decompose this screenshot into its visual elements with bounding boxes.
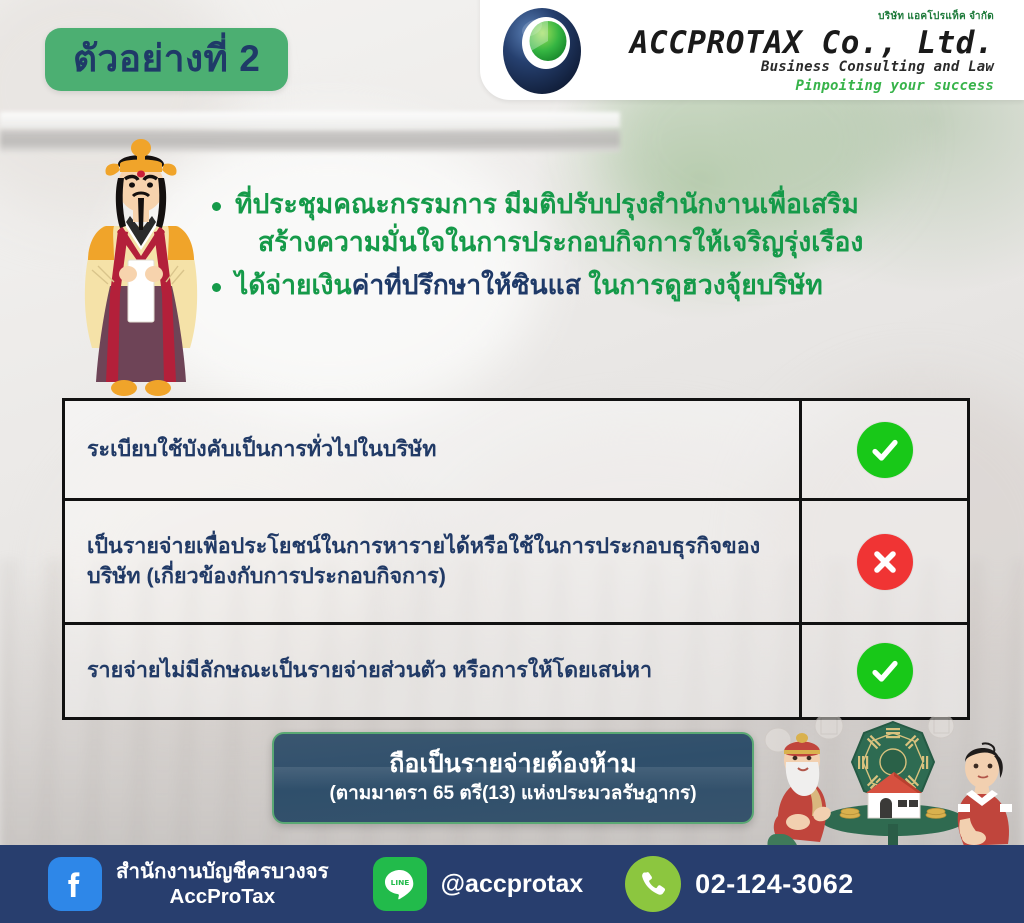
line-icon-label: LINE	[390, 878, 409, 887]
footer-line[interactable]: LINE @accprotax	[373, 857, 584, 911]
red-cross-circle-icon	[857, 534, 913, 590]
logo-tagline: Pinpoiting your success	[796, 78, 994, 94]
table-row: เป็นรายจ่ายเพื่อประโยชน์ในการหารายได้หรื…	[65, 501, 967, 625]
bullet-segment: ที่ประชุมคณะกรรมการ มีมติปรับปรุงสำนักงา…	[235, 189, 859, 219]
criteria-text: ระเบียบใช้บังคับเป็นการทั่วไปในบริษัท	[65, 401, 799, 498]
facebook-icon[interactable]	[48, 857, 102, 911]
fengshui-master-consultation-illustration	[762, 716, 1024, 852]
footer-phone[interactable]: 02-124-3062	[625, 856, 854, 912]
bullet-list: ที่ประชุมคณะกรรมการ มีมติปรับปรุงสำนักงา…	[212, 186, 1012, 311]
bullet-text: ได้จ่ายเงินค่าที่ปรึกษาให้ซินแส ในการดูฮ…	[235, 267, 823, 305]
line-chat-icon[interactable]: LINE	[373, 857, 427, 911]
accprotax-sphere-logo-icon	[498, 4, 590, 96]
bullet-item: ได้จ่ายเงินค่าที่ปรึกษาให้ซินแส ในการดูฮ…	[212, 267, 1012, 305]
logo-thai-company-name: บริษัท แอคโปรแท็ค จำกัด	[878, 9, 994, 24]
conclusion-banner: ถือเป็นรายจ่ายต้องห้าม (ตามมาตรา 65 ตรี(…	[272, 732, 754, 824]
bullet-dot-icon	[212, 283, 221, 292]
bullet-segment-highlight: ค่าที่ปรึกษาให้ซินแส	[352, 270, 581, 300]
contact-footer: สำนักงานบัญชีครบวงจร AccProTax LINE @acc…	[0, 845, 1024, 923]
logo-subtitle: Business Consulting and Law	[761, 59, 994, 75]
chinese-deity-figure-illustration	[62, 134, 220, 402]
phone-icon[interactable]	[625, 856, 681, 912]
facebook-page-line2: AccProTax	[170, 885, 276, 908]
table-row: ระเบียบใช้บังคับเป็นการทั่วไปในบริษัท	[65, 401, 967, 501]
criteria-table: ระเบียบใช้บังคับเป็นการทั่วไปในบริษัท เป…	[62, 398, 970, 720]
phone-number: 02-124-3062	[695, 869, 854, 900]
criteria-result-cell	[799, 501, 967, 622]
criteria-text: เป็นรายจ่ายเพื่อประโยชน์ในการหารายได้หรื…	[65, 501, 799, 622]
conclusion-main-text: ถือเป็นรายจ่ายต้องห้าม	[389, 750, 637, 779]
bullet-segment: สร้างความมั่นใจในการประกอบกิจการให้เจริญ…	[235, 224, 863, 262]
green-check-circle-icon	[857, 422, 913, 478]
criteria-result-cell	[799, 401, 967, 498]
facebook-page-line1: สำนักงานบัญชีครบวงจร	[116, 860, 329, 883]
background-shelf-highlight	[0, 112, 620, 128]
bullet-segment: ได้จ่ายเงิน	[235, 270, 352, 300]
conclusion-sub-text: (ตามมาตรา 65 ตรี(13) แห่งประมวลรัษฎากร)	[329, 783, 696, 806]
green-check-circle-icon	[857, 643, 913, 699]
footer-facebook[interactable]: สำนักงานบัญชีครบวงจร AccProTax	[48, 857, 329, 911]
bullet-dot-icon	[212, 202, 221, 211]
facebook-page-name: สำนักงานบัญชีครบวงจร AccProTax	[116, 859, 329, 909]
logo-company-name: ACCPROTAX Co., Ltd.	[630, 25, 994, 61]
bullet-item: ที่ประชุมคณะกรรมการ มีมติปรับปรุงสำนักงา…	[212, 186, 1012, 261]
example-badge: ตัวอย่างที่ 2	[45, 28, 288, 91]
criteria-text: รายจ่ายไม่มีลักษณะเป็นรายจ่ายส่วนตัว หรื…	[65, 625, 799, 717]
company-logo-card: บริษัท แอคโปรแท็ค จำกัด ACCPROTAX Co., L…	[480, 0, 1024, 100]
table-row: รายจ่ายไม่มีลักษณะเป็นรายจ่ายส่วนตัว หรื…	[65, 625, 967, 717]
line-handle: @accprotax	[441, 870, 584, 899]
bullet-segment: ในการดูฮวงจุ้ยบริษัท	[581, 270, 823, 300]
bullet-text: ที่ประชุมคณะกรรมการ มีมติปรับปรุงสำนักงา…	[235, 186, 863, 261]
infographic-poster: ตัวอย่างที่ 2	[0, 0, 1024, 923]
criteria-result-cell	[799, 625, 967, 717]
